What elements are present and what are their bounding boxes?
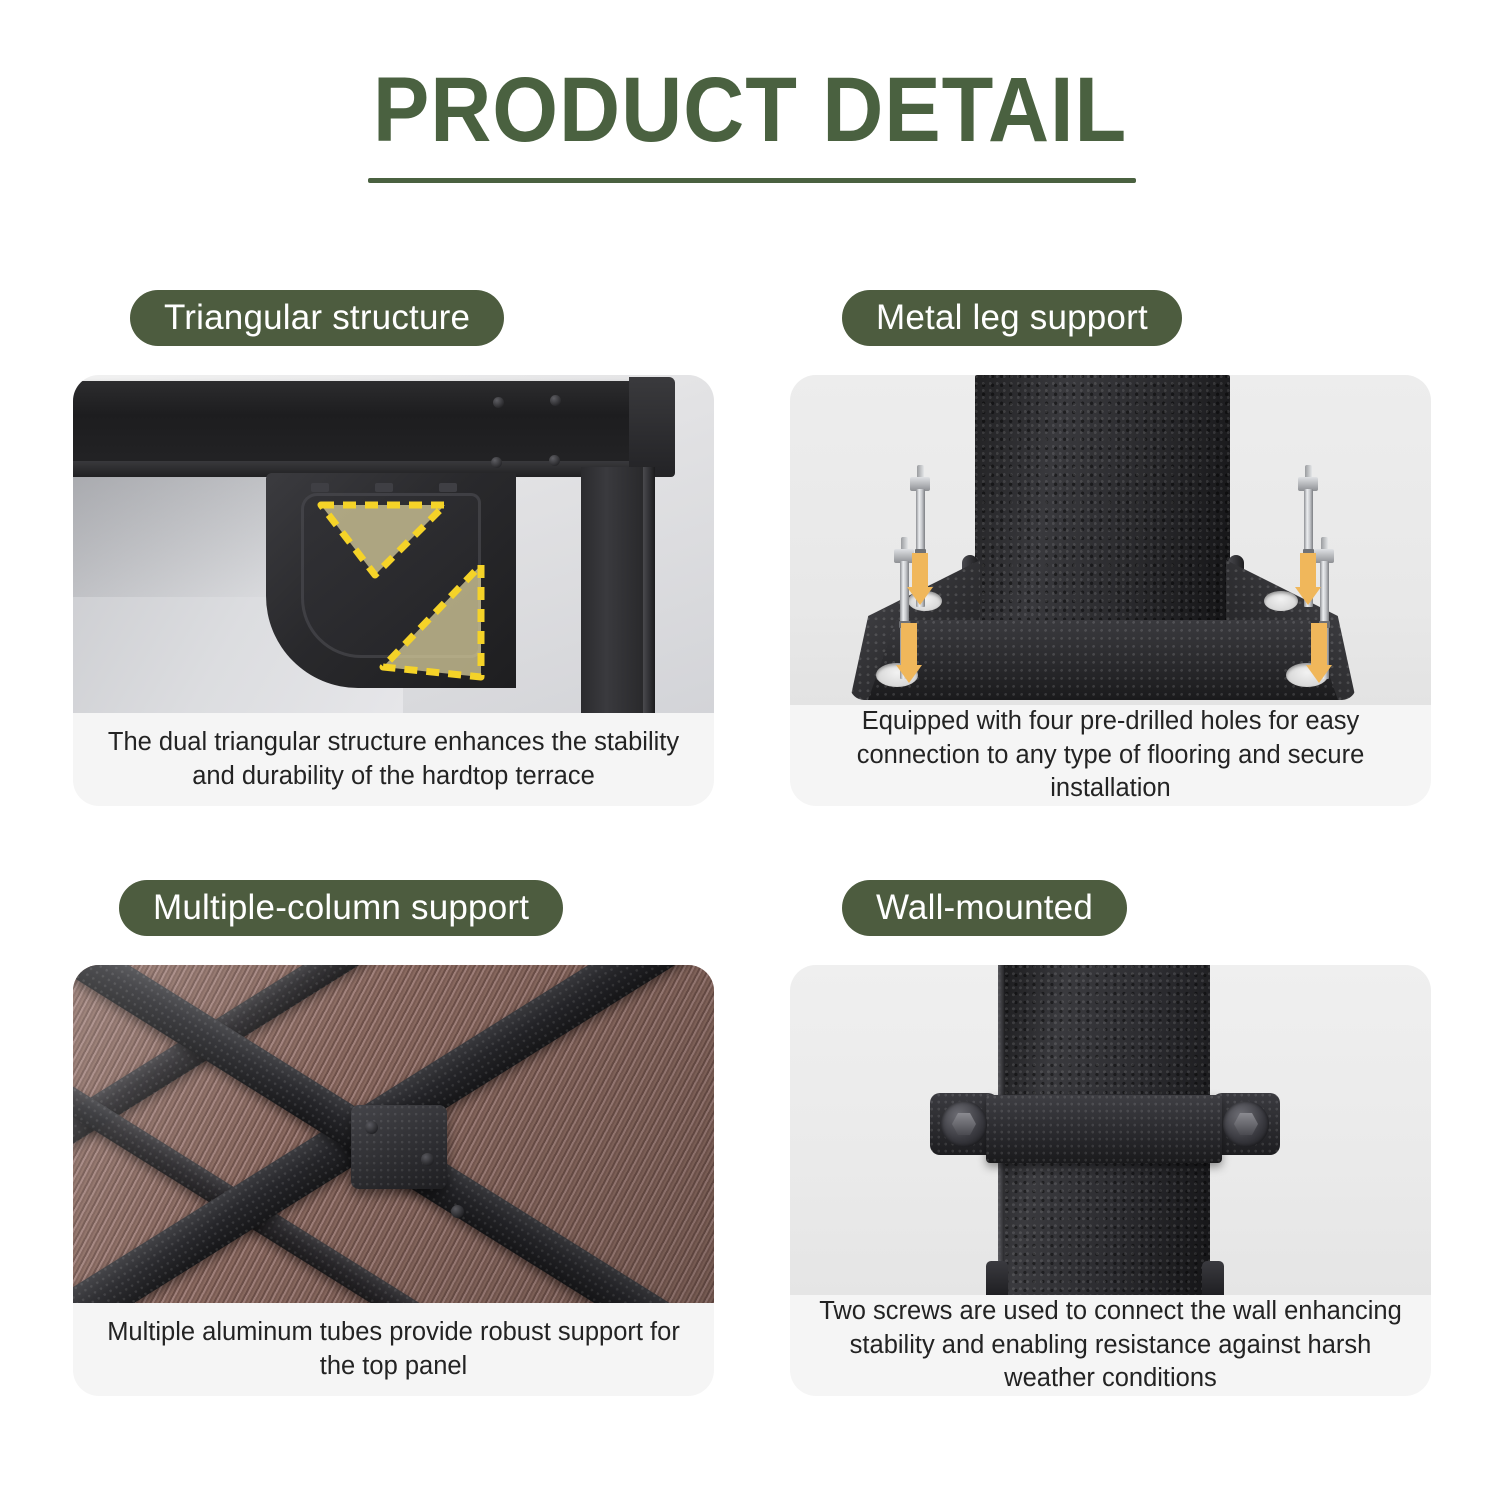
- install-direction-arrow-icon: [907, 553, 933, 605]
- card-badge-triangular-structure[interactable]: Triangular structure: [130, 290, 504, 346]
- install-direction-arrow-icon: [1306, 623, 1332, 683]
- card-caption: Two screws are used to connect the wall …: [790, 1295, 1431, 1396]
- screw-icon: [491, 457, 502, 468]
- photo-multiple-column-support: [73, 965, 714, 1303]
- wall-mount-bracket-band: [986, 1095, 1222, 1163]
- beam-end-cap: [629, 377, 675, 477]
- screw-icon: [549, 455, 560, 466]
- card-badge-multiple-column-support[interactable]: Multiple-column support: [119, 880, 563, 936]
- bracket-tab: [375, 483, 393, 492]
- surface-sheen: [73, 965, 714, 1303]
- card-panel: The dual triangular structure enhances t…: [73, 375, 714, 806]
- post-clip-left: [986, 1261, 1008, 1295]
- page-title: PRODUCT DETAIL: [60, 62, 1440, 159]
- post-edge-highlight: [643, 467, 655, 713]
- card-badge-wall-mounted[interactable]: Wall-mounted: [842, 880, 1127, 936]
- screw-icon: [550, 395, 561, 406]
- install-direction-arrow-icon: [1295, 553, 1321, 605]
- bracket-tab: [439, 483, 457, 492]
- photo-triangular-structure: [73, 375, 714, 713]
- photo-metal-leg-support: [790, 375, 1431, 705]
- photo-wall-mounted: [790, 965, 1431, 1295]
- roof-beam: [73, 381, 643, 467]
- card-caption: The dual triangular structure enhances t…: [73, 713, 714, 806]
- bracket-tab: [311, 483, 329, 492]
- card-badge-metal-leg-support[interactable]: Metal leg support: [842, 290, 1182, 346]
- card-panel: Equipped with four pre-drilled holes for…: [790, 375, 1431, 806]
- card-caption: Multiple aluminum tubes provide robust s…: [73, 1303, 714, 1396]
- card-panel: Two screws are used to connect the wall …: [790, 965, 1431, 1396]
- card-caption: Equipped with four pre-drilled holes for…: [790, 705, 1431, 806]
- card-panel: Multiple aluminum tubes provide robust s…: [73, 965, 714, 1396]
- highlight-triangle-lower-icon: [373, 557, 491, 685]
- pre-drilled-hole: [1264, 591, 1298, 611]
- post-clip-right: [1202, 1261, 1224, 1295]
- base-plate-front: [868, 620, 1338, 700]
- screw-icon: [493, 397, 504, 408]
- install-direction-arrow-icon: [896, 623, 922, 683]
- title-underline-rule: [368, 178, 1136, 183]
